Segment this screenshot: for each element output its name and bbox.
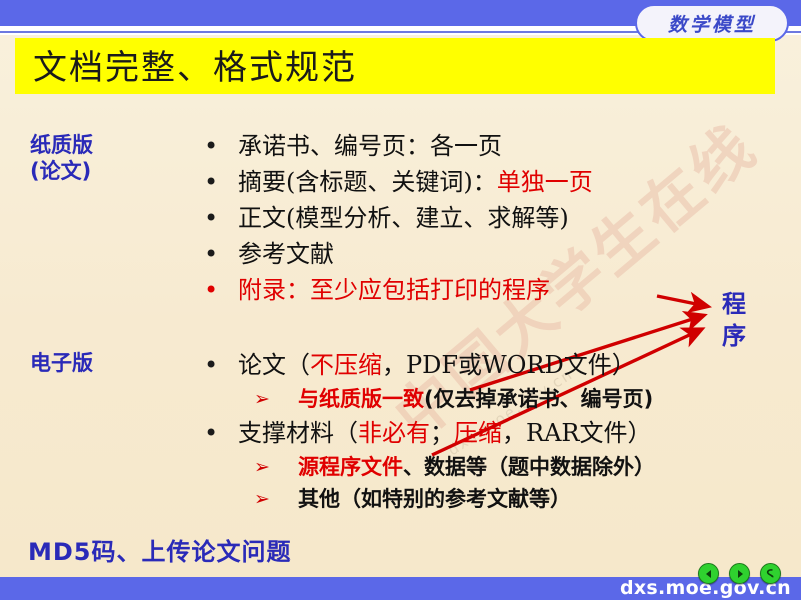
text-run: 、数据等（题中数据除外）	[403, 455, 655, 479]
bullet-text: 论文（不压缩，PDF或WORD文件）	[238, 347, 636, 383]
text-run: ，PDF或WORD文件）	[382, 351, 636, 379]
text-run: 论文（	[238, 351, 310, 379]
page-title: 文档完整、格式规范	[33, 40, 357, 89]
text-run: 其他（如特别的参考文献等）	[298, 487, 571, 511]
text-run: 摘要	[238, 168, 286, 196]
text-run: ，RAR文件）	[502, 419, 651, 447]
callout-line2: 序	[722, 320, 746, 352]
bullet-text: 参考文献	[238, 236, 334, 272]
bullet-text: 正文(模型分析、建立、求解等)	[238, 200, 569, 236]
sub-bullet-arrow-icon: ➢	[254, 383, 298, 415]
bullet-text: 附录：至少应包括打印的程序	[238, 272, 550, 308]
sub-bullet-arrow-icon: ➢	[254, 451, 298, 483]
text-run: 承诺书、编号页：各一页	[238, 132, 502, 160]
sub-bullet-item: ➢其他（如特别的参考文献等）	[254, 483, 800, 515]
text-run: ：	[473, 168, 497, 196]
slide-root: 中国大学生在线 dxs.moe.gov.cn 数学模型 文档完整、格式规范 纸质…	[0, 0, 801, 600]
bullet-item: •参考文献	[200, 236, 800, 272]
prev-button[interactable]	[698, 563, 719, 584]
bullet-item: •正文(模型分析、建立、求解等)	[200, 200, 800, 236]
text-run: ；	[430, 419, 454, 447]
text-run: 不压缩	[310, 351, 382, 379]
course-badge-label: 数学模型	[668, 10, 756, 37]
section-label-paper-line1: 纸质版	[30, 132, 93, 158]
bullet-item: •支撑材料（非必有；压缩，RAR文件）	[200, 415, 800, 451]
course-badge: 数学模型	[635, 4, 789, 42]
text-run: 单独一页	[497, 168, 593, 196]
text-run: (含标题、关键词)	[286, 168, 473, 196]
bullet-dot-icon: •	[200, 415, 238, 451]
bullet-text: 摘要(含标题、关键词)：单独一页	[238, 164, 593, 200]
section-label-paper-line2: (论文)	[30, 158, 93, 184]
bullet-list-paper: •承诺书、编号页：各一页•摘要(含标题、关键词)：单独一页•正文(模型分析、建立…	[200, 128, 800, 308]
text-run: 附录：至少应包括打印的程序	[238, 276, 550, 304]
callout-line1: 程	[722, 288, 746, 320]
bullet-dot-icon: •	[200, 236, 238, 272]
triangle-right-icon	[735, 569, 745, 579]
text-run: 非必有	[358, 419, 430, 447]
text-run: 支撑材料（	[238, 419, 358, 447]
callout-program: 程 序	[722, 288, 746, 352]
bullet-dot-icon: •	[200, 200, 238, 236]
return-arrow-icon	[765, 568, 776, 579]
bullet-text: 与纸质版一致(仅去掉承诺书、编号页)	[298, 383, 653, 415]
home-button[interactable]	[760, 563, 781, 584]
next-button[interactable]	[729, 563, 750, 584]
text-run: (模型分析、建立、求解等)	[286, 204, 569, 232]
slide-title-band: 文档完整、格式规范	[15, 38, 775, 94]
sub-bullet-item: ➢与纸质版一致(仅去掉承诺书、编号页)	[254, 383, 800, 415]
text-run: 压缩	[454, 419, 502, 447]
bullet-dot-icon: •	[200, 128, 238, 164]
bullet-text: 支撑材料（非必有；压缩，RAR文件）	[238, 415, 651, 451]
md5-note: MD5码、上传论文问题	[28, 532, 292, 567]
bullet-item: •承诺书、编号页：各一页	[200, 128, 800, 164]
triangle-left-icon	[704, 569, 714, 579]
sub-bullet-item: ➢源程序文件、数据等（题中数据除外）	[254, 451, 800, 483]
bullet-text: 承诺书、编号页：各一页	[238, 128, 502, 164]
bullet-text: 其他（如特别的参考文献等）	[298, 483, 571, 515]
bullet-dot-icon: •	[200, 272, 238, 308]
text-run: (仅去掉承诺书、编号页)	[424, 387, 653, 411]
sub-bullet-arrow-icon: ➢	[254, 483, 298, 515]
nav-button-group	[698, 563, 781, 584]
text-run: 与纸质版一致	[298, 387, 424, 411]
bullet-item: •附录：至少应包括打印的程序	[200, 272, 800, 308]
bullet-list-electronic: •论文（不压缩，PDF或WORD文件）➢与纸质版一致(仅去掉承诺书、编号页)•支…	[200, 347, 800, 515]
section-label-electronic: 电子版	[30, 350, 93, 376]
bullet-text: 源程序文件、数据等（题中数据除外）	[298, 451, 655, 483]
section-label-paper: 纸质版 (论文)	[30, 132, 93, 184]
bullet-dot-icon: •	[200, 347, 238, 383]
bullet-item: •摘要(含标题、关键词)：单独一页	[200, 164, 800, 200]
bullet-dot-icon: •	[200, 164, 238, 200]
text-run: 源程序文件	[298, 455, 403, 479]
bullet-item: •论文（不压缩，PDF或WORD文件）	[200, 347, 800, 383]
text-run: 正文	[238, 204, 286, 232]
text-run: 参考文献	[238, 240, 334, 268]
